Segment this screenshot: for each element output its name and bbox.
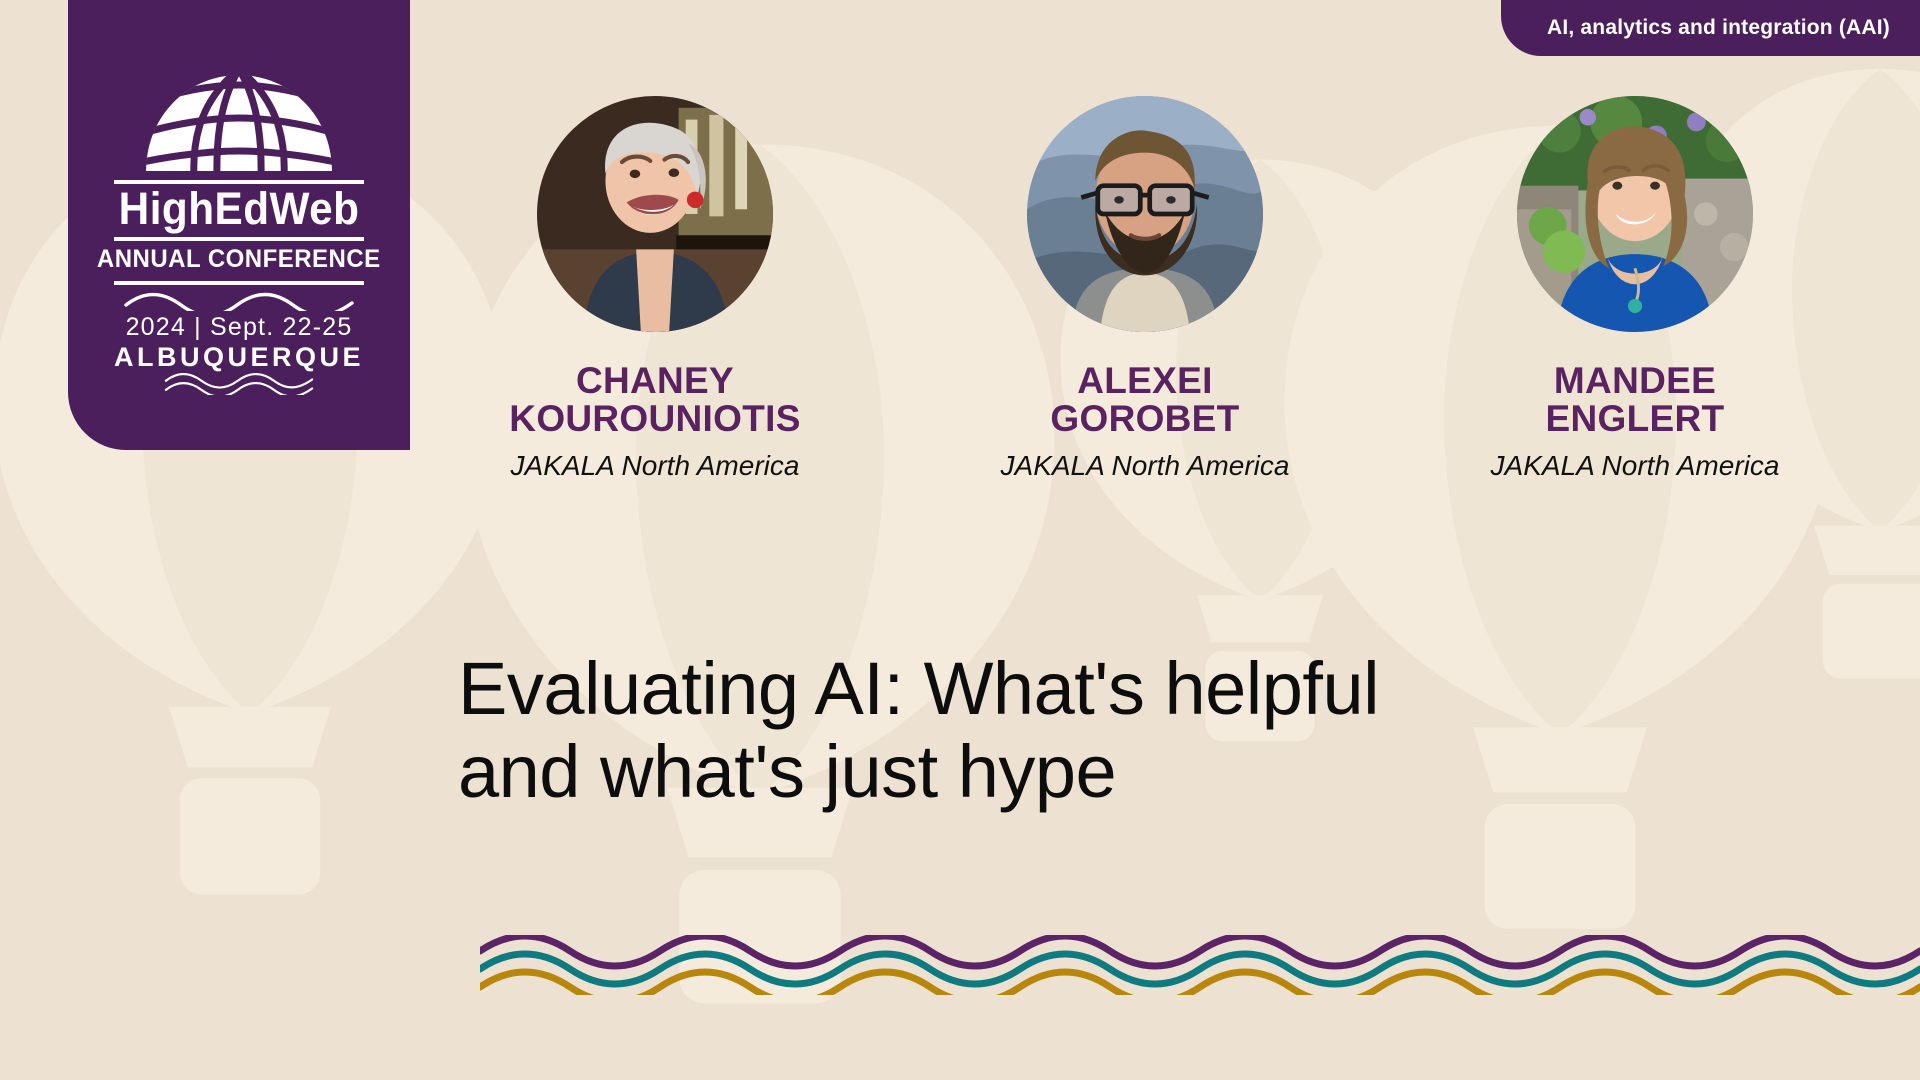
logo-conference-date: 2024 | Sept. 22-25 — [126, 313, 353, 342]
logo-subtitle: ANNUAL CONFERENCE — [97, 245, 381, 274]
speaker-card: MANDEE ENGLERT JAKALA North America — [1435, 96, 1835, 482]
logo-wordmark: HighEdWeb — [119, 188, 360, 231]
logo-wave-bottom-icon — [124, 373, 354, 395]
highedweb-logo-card: HighEdWeb ANNUAL CONFERENCE 2024 | Sept.… — [68, 0, 410, 450]
globe-dome-icon — [144, 73, 334, 173]
speaker-name: CHANEY KOUROUNIOTIS — [509, 362, 800, 438]
track-badge-label: AI, analytics and integration (AAI) — [1547, 16, 1890, 40]
speaker-name-line2: GOROBET — [1050, 400, 1239, 438]
wave-teal — [480, 954, 1920, 984]
speakers-row: CHANEY KOUROUNIOTIS JAKALA North America — [410, 96, 1880, 482]
wave-purple — [480, 936, 1920, 966]
logo-divider-mid — [114, 237, 364, 241]
logo-wave-top-icon — [124, 289, 354, 311]
session-title: Evaluating AI: What's helpful and what's… — [458, 648, 1638, 814]
speaker-name-line1: MANDEE — [1546, 362, 1725, 400]
speaker-organization: JAKALA North America — [1491, 450, 1780, 482]
speaker-name-line2: KOUROUNIOTIS — [509, 400, 800, 438]
speaker-name: MANDEE ENGLERT — [1546, 362, 1725, 438]
session-title-line1: Evaluating AI: What's helpful — [458, 648, 1638, 731]
speaker-organization: JAKALA North America — [1001, 450, 1290, 482]
speaker-portrait-chaney — [537, 96, 773, 332]
speaker-portrait-mandee — [1517, 96, 1753, 332]
speaker-name-line1: ALEXEI — [1050, 362, 1239, 400]
decorative-waves — [480, 935, 1920, 995]
speaker-name-line2: ENGLERT — [1546, 400, 1725, 438]
logo-divider-bottom — [114, 281, 364, 285]
speaker-card: CHANEY KOUROUNIOTIS JAKALA North America — [455, 96, 855, 482]
session-title-line2: and what's just hype — [458, 731, 1638, 814]
speaker-portrait-alexei — [1027, 96, 1263, 332]
speaker-organization: JAKALA North America — [511, 450, 800, 482]
track-badge: AI, analytics and integration (AAI) — [1501, 0, 1920, 56]
conference-session-slide: HighEdWeb ANNUAL CONFERENCE 2024 | Sept.… — [0, 0, 1920, 1080]
speaker-name-line1: CHANEY — [509, 362, 800, 400]
speaker-card: ALEXEI GOROBET JAKALA North America — [945, 96, 1345, 482]
speaker-name: ALEXEI GOROBET — [1050, 362, 1239, 438]
logo-conference-city: ALBUQUERQUE — [114, 342, 364, 373]
